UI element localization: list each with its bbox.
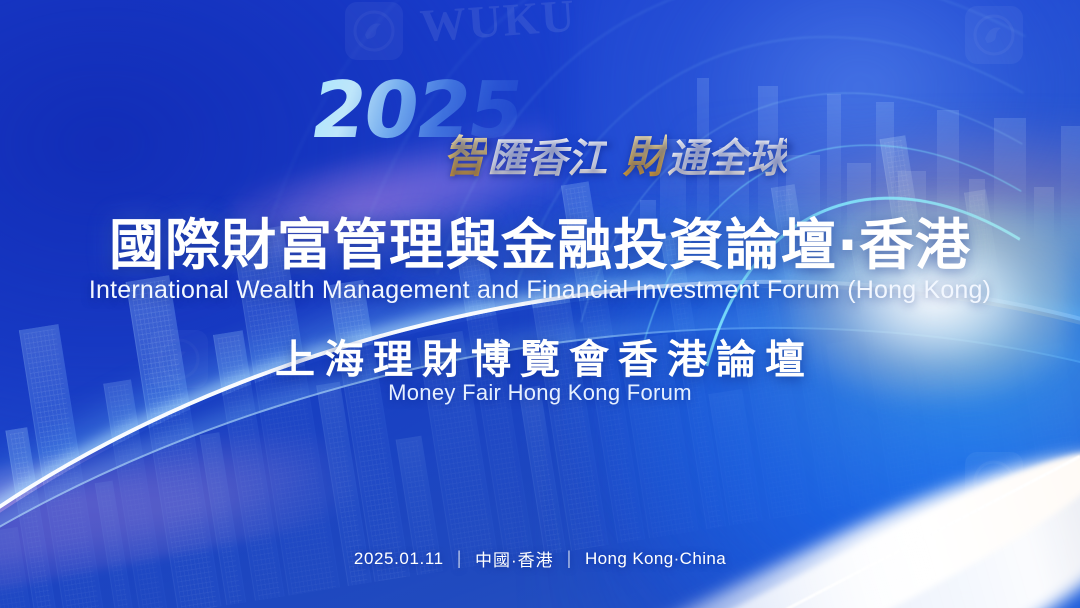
event-date: 2025.01.11: [354, 549, 444, 569]
slogan-gold-char-2: 財: [623, 121, 667, 185]
secondary-title-chinese: 上海理財博覽會香港論壇: [0, 327, 1080, 385]
event-location-chinese: 中國·香港: [475, 546, 554, 571]
footer-info: 2025.01.11 | 中國·香港 | Hong Kong·China: [0, 546, 1080, 571]
main-title-chinese: 國際財富管理與金融投資論壇·香港: [0, 200, 1080, 280]
event-location-english: Hong Kong·China: [585, 549, 726, 569]
footer-separator-1: |: [457, 548, 462, 569]
main-subtitle-english: International Wealth Management and Fina…: [0, 276, 1080, 305]
slogan-white-part-1: 匯香江: [487, 126, 607, 184]
event-key-visual-poster: WUKU 2025 智 匯香江: [0, 0, 1080, 608]
footer-separator-2: |: [567, 548, 572, 569]
event-slogan: 智 匯香江 財 通全球: [443, 121, 787, 185]
slogan-gold-char-1: 智: [443, 121, 487, 185]
poster-content: 2025 智 匯香江 財 通全球 國際財富管理與金融投資論壇·香港 Intern…: [0, 0, 1080, 608]
secondary-subtitle-english: Money Fair Hong Kong Forum: [0, 380, 1080, 406]
slogan-white-part-2: 通全球: [667, 126, 787, 184]
